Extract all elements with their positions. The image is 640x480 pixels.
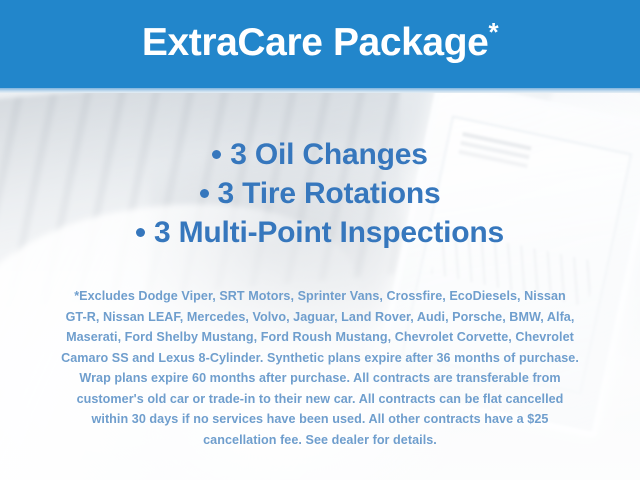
disclaimer-text: *Excludes Dodge Viper, SRT Motors, Sprin… [22,286,618,450]
disclaimer-line: *Excludes Dodge Viper, SRT Motors, Sprin… [22,286,618,307]
benefit-label: 3 Tire Rotations [218,177,441,210]
benefit-label: 3 Oil Changes [230,138,427,171]
page-title: ExtraCare Package* [142,23,498,65]
disclaimer-line: Wrap plans expire 60 months after purcha… [22,368,618,389]
extracare-package-promo-card: ExtraCare Package* 3 Oil Changes 3 Tire … [0,0,640,480]
benefit-list: 3 Oil Changes 3 Tire Rotations 3 Multi-P… [0,135,640,252]
disclaimer-line: within 30 days if no services have been … [22,409,618,430]
page-title-text: ExtraCare Package [142,21,489,64]
disclaimer-line: customer's old car or trade-in to their … [22,389,618,410]
bullet-dot-icon [212,150,221,159]
header-underline-divider [0,88,640,93]
benefit-label: 3 Multi-Point Inspections [154,216,504,249]
disclaimer-line: Maserati, Ford Shelby Mustang, Ford Rous… [22,327,618,348]
header-band: ExtraCare Package* [0,0,640,88]
list-item: 3 Tire Rotations [0,174,640,213]
bullet-dot-icon [136,228,145,237]
list-item: 3 Multi-Point Inspections [0,213,640,252]
page-title-asterisk: * [488,17,498,47]
disclaimer-line: cancellation fee. See dealer for details… [22,430,618,451]
list-item: 3 Oil Changes [0,135,640,174]
bullet-dot-icon [200,189,209,198]
disclaimer-line: Camaro SS and Lexus 8-Cylinder. Syntheti… [22,348,618,369]
disclaimer-line: GT-R, Nissan LEAF, Mercedes, Volvo, Jagu… [22,307,618,328]
